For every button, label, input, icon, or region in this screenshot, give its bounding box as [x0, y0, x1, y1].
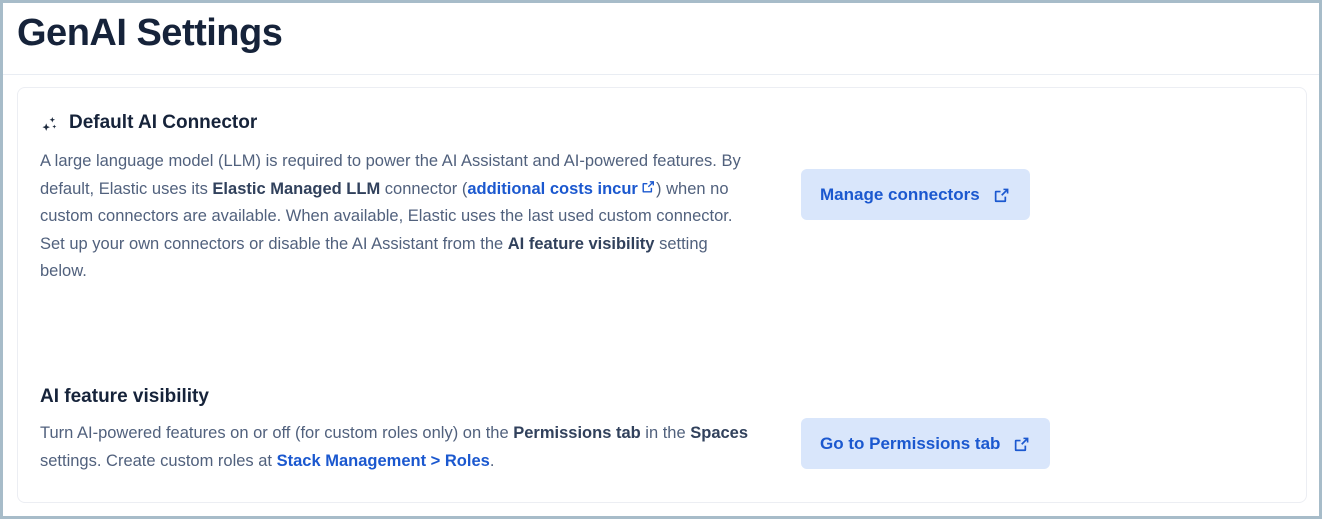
visibility-bold-spaces: Spaces [690, 424, 748, 442]
go-to-permissions-tab-button[interactable]: Go to Permissions tab [801, 418, 1050, 469]
default-ai-connector-heading: Default AI Connector [40, 110, 257, 136]
ai-feature-visibility-heading-text: AI feature visibility [40, 384, 209, 410]
genai-settings-screen: GenAI Settings Default AI Connector A la… [0, 0, 1322, 519]
connector-text-part-2: connector ( [380, 180, 467, 198]
go-to-permissions-tab-button-label: Go to Permissions tab [820, 434, 1000, 454]
settings-panel: Default AI Connector A large language mo… [17, 87, 1307, 503]
manage-connectors-button-label: Manage connectors [820, 185, 980, 205]
default-ai-connector-description: A large language model (LLM) is required… [40, 148, 752, 286]
connector-bold-ai-feature-visibility: AI feature visibility [508, 235, 655, 253]
visibility-text-part-4: . [490, 452, 495, 470]
visibility-text-part-2: in the [641, 424, 691, 442]
external-link-icon [1013, 435, 1031, 453]
additional-costs-incur-link-label: additional costs incur [467, 180, 638, 198]
visibility-bold-permissions-tab: Permissions tab [513, 424, 640, 442]
page-title: GenAI Settings [17, 7, 282, 59]
sparkles-icon [40, 115, 59, 134]
default-ai-connector-heading-text: Default AI Connector [69, 110, 257, 136]
visibility-text-part-3: settings. Create custom roles at [40, 452, 277, 470]
stack-management-roles-link[interactable]: Stack Management > Roles [277, 452, 490, 470]
external-link-icon [993, 186, 1011, 204]
page-header: GenAI Settings [3, 3, 1319, 75]
ai-feature-visibility-description: Turn AI-powered features on or off (for … [40, 420, 758, 475]
external-link-icon [641, 176, 656, 191]
ai-feature-visibility-heading: AI feature visibility [40, 384, 209, 410]
additional-costs-incur-link[interactable]: additional costs incur [467, 180, 656, 198]
visibility-text-part-1: Turn AI-powered features on or off (for … [40, 424, 513, 442]
connector-bold-elastic-managed-llm: Elastic Managed LLM [212, 180, 380, 198]
manage-connectors-button[interactable]: Manage connectors [801, 169, 1030, 220]
